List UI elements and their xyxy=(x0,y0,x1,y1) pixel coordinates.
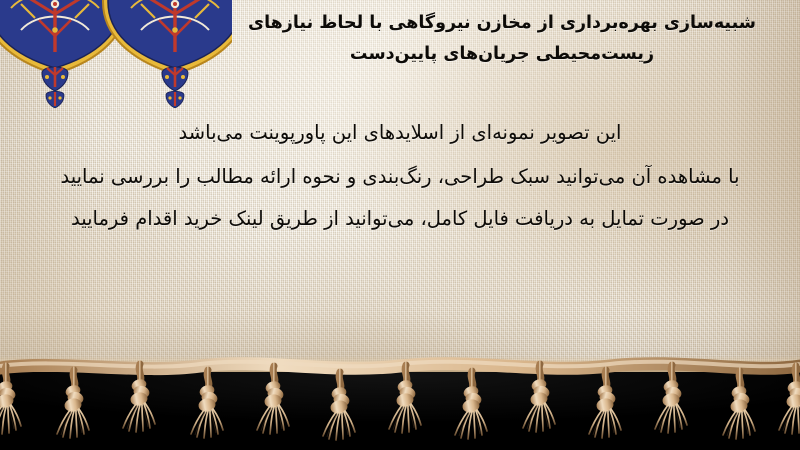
title-line-2: زیست‌محیطی جریان‌های پایین‌دست xyxy=(222,39,782,70)
slide-body: این تصویر نمونه‌ای از اسلایدهای این پاور… xyxy=(14,112,786,240)
body-line-1: این تصویر نمونه‌ای از اسلایدهای این پاور… xyxy=(14,112,786,154)
footer-black-band xyxy=(0,368,800,450)
slide-canvas: شبیه‌سازی بهره‌برداری از مخازن نیروگاهی … xyxy=(0,0,800,450)
body-line-3: در صورت تمایل به دریافت فایل کامل، می‌تو… xyxy=(14,198,786,240)
title-line-1: شبیه‌سازی بهره‌برداری از مخازن نیروگاهی … xyxy=(222,8,782,39)
persian-carpet-medallion-icon xyxy=(0,0,232,108)
body-line-2: با مشاهده آن می‌توانید سبک طراحی، رنگ‌بن… xyxy=(14,156,786,198)
slide-title: شبیه‌سازی بهره‌برداری از مخازن نیروگاهی … xyxy=(222,8,782,70)
